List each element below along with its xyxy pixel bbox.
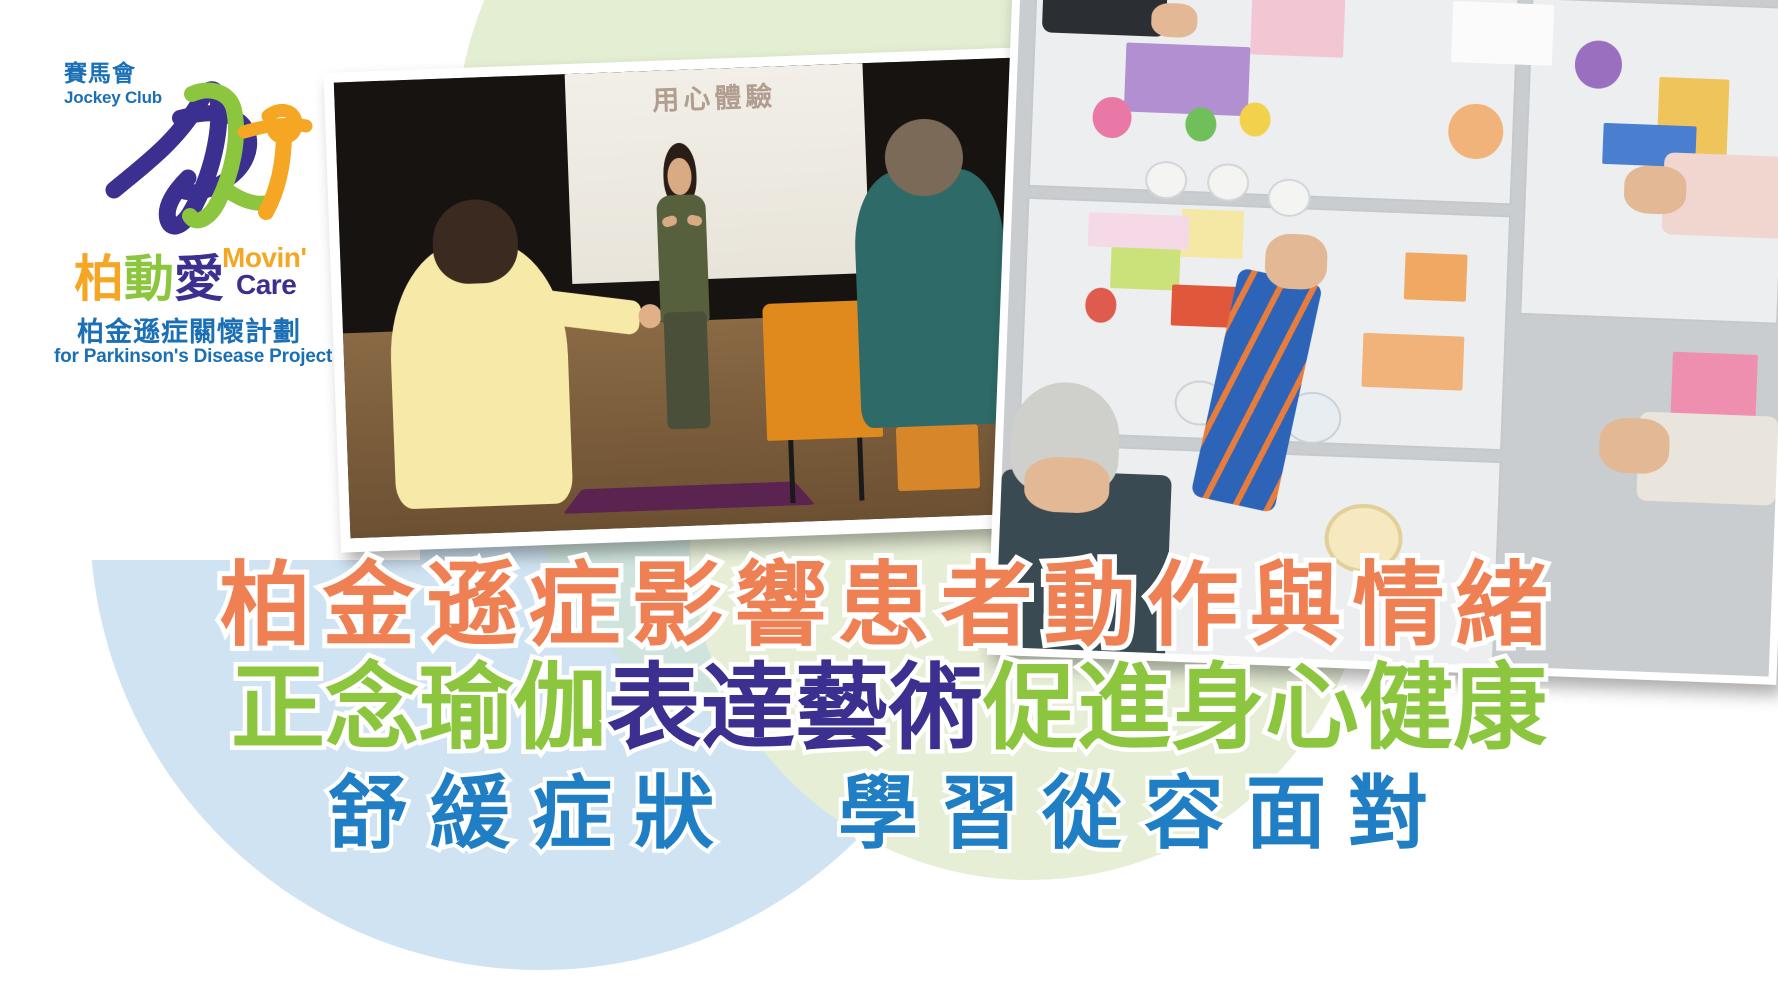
care-text: Care (236, 272, 332, 299)
participant-teal-shirt (853, 168, 1011, 429)
purple-paper-sheet (1124, 43, 1250, 116)
instructor-figure (635, 141, 734, 436)
forehead-lower-left (1024, 456, 1111, 514)
movin-text: Movin' (222, 245, 332, 272)
headline-line-2: 正念瑜伽表達藝術促進身心健康 (0, 662, 1778, 760)
headline-line-2-segment-1: 正念瑜伽 (231, 654, 607, 763)
poster-canvas: 賽馬會 Jockey Club 柏 動 愛 Movin' Care 柏金遜症關懷… (0, 0, 1778, 1000)
marker-pen-set (1361, 332, 1464, 391)
headline-line-3: 舒緩症狀 學習從容面對 (0, 774, 1778, 862)
project-name-cn: 柏金遜症關懷計劃 (54, 310, 324, 349)
sticker-sheet-top (1250, 0, 1345, 58)
instructor-torso (656, 195, 710, 325)
brand-char-1: 柏 (74, 254, 124, 304)
orange-sticky-note (1404, 252, 1468, 302)
hand-right-upper (1624, 165, 1688, 215)
brand-char-3: 愛 (174, 254, 224, 304)
hand-right-lower (1598, 417, 1670, 474)
white-paper-sheet (1451, 1, 1554, 66)
headline-block: 柏金遜症影響患者動作與情緒 正念瑜伽表達藝術促進身心健康 舒緩症狀 學習從容面對 (0, 560, 1778, 862)
participant-yellow-jacket (387, 238, 573, 509)
headline-line-2-segment-3: 促進身心健康 (983, 654, 1547, 763)
participant-grey-hair (884, 118, 964, 197)
instructor-legs (664, 311, 711, 429)
headline-line-2-segment-2: 表達藝術 (607, 654, 983, 763)
hand-center (1265, 233, 1329, 290)
photo-mindfulness-yoga-class: 用心體驗 (323, 47, 1038, 552)
participant-upper-left (1042, 0, 1169, 37)
screen-caption-text: 用心體驗 (564, 71, 864, 121)
hand-upper-left (1150, 3, 1198, 39)
movin-care-wordmark: Movin' Care (222, 245, 332, 298)
headline-line-1: 柏金遜症影響患者動作與情緒 (0, 560, 1778, 656)
brand-char-2: 動 (124, 254, 174, 304)
jockey-club-movin-care-logo: 賽馬會 Jockey Club 柏 動 愛 Movin' Care 柏金遜症關懷… (54, 52, 324, 382)
orange-box-prop (896, 424, 980, 491)
brush-calligraphy-mark-icon (84, 70, 324, 255)
sticker-sheet-left (1088, 212, 1190, 250)
photo-yoga-content: 用心體驗 (334, 58, 1028, 539)
project-name-en: for Parkinson's Disease Project (54, 346, 324, 368)
yellow-sticky-note (1181, 209, 1245, 259)
